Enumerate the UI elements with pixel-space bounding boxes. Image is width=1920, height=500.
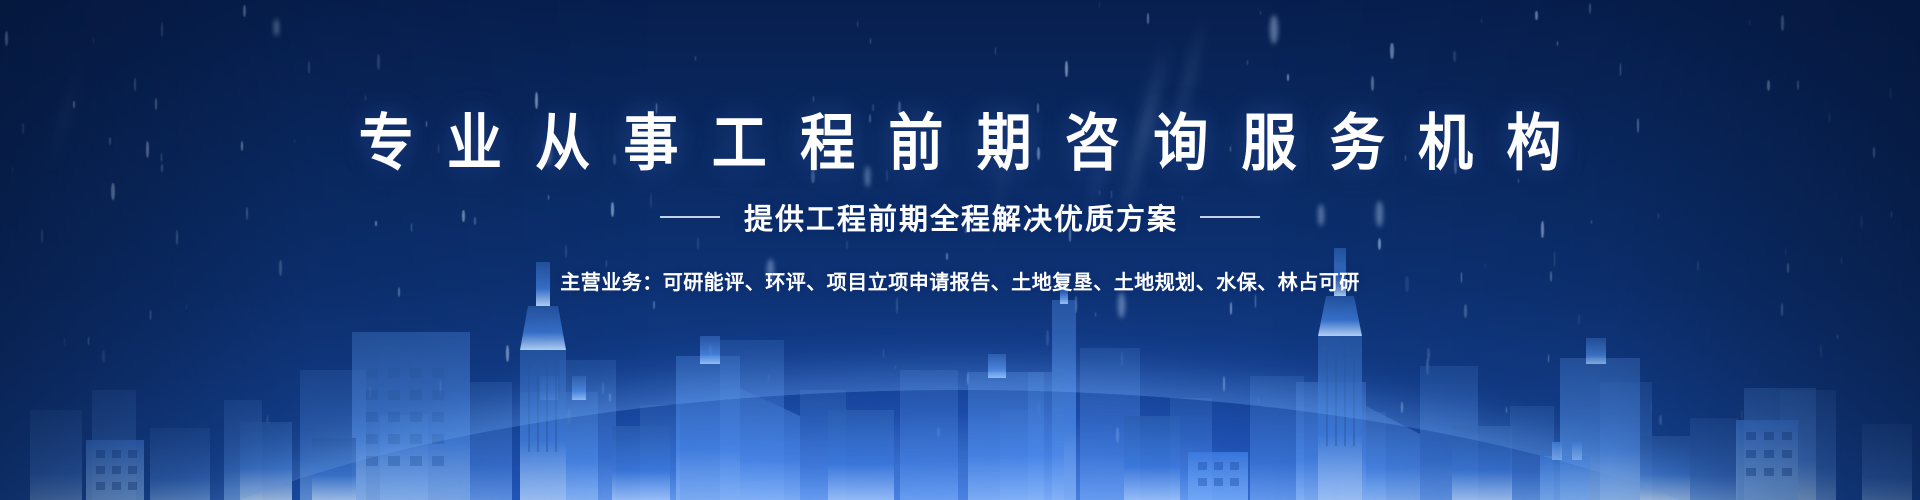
window-dots-c (1746, 432, 1792, 476)
horizon-glow-rim (30, 390, 1890, 500)
window-dots-a (96, 450, 137, 490)
banner-services-line: 主营业务：可研能评、环评、项目立项申请报告、土地复垦、土地规划、水保、林占可研 (0, 266, 1920, 295)
skyline-mid-layer (352, 276, 1816, 500)
window-dots-b (1198, 462, 1239, 486)
banner-content: 专 业 从 事 工 程 前 期 咨 询 服 务 机 构 提供工程前期全程解决优质… (0, 0, 1920, 295)
hero-banner: 专 业 从 事 工 程 前 期 咨 询 服 务 机 构 提供工程前期全程解决优质… (0, 0, 1920, 500)
subtitle-row: 提供工程前期全程解决优质方案 (0, 196, 1920, 238)
tower-flutes-right (1327, 344, 1354, 446)
banner-subtitle: 提供工程前期全程解决优质方案 (742, 196, 1178, 238)
tower-flutes-left (529, 358, 556, 452)
skyline-foreground-layer (86, 420, 1798, 500)
skyline-far-layer (30, 340, 1912, 500)
right-rule-decoration (1200, 216, 1260, 218)
banner-headline: 专 业 从 事 工 程 前 期 咨 询 服 务 机 构 (0, 110, 1920, 175)
window-grid-left (366, 346, 444, 466)
horizon-glow-arc (80, 380, 1840, 500)
left-rule-decoration (660, 216, 720, 218)
